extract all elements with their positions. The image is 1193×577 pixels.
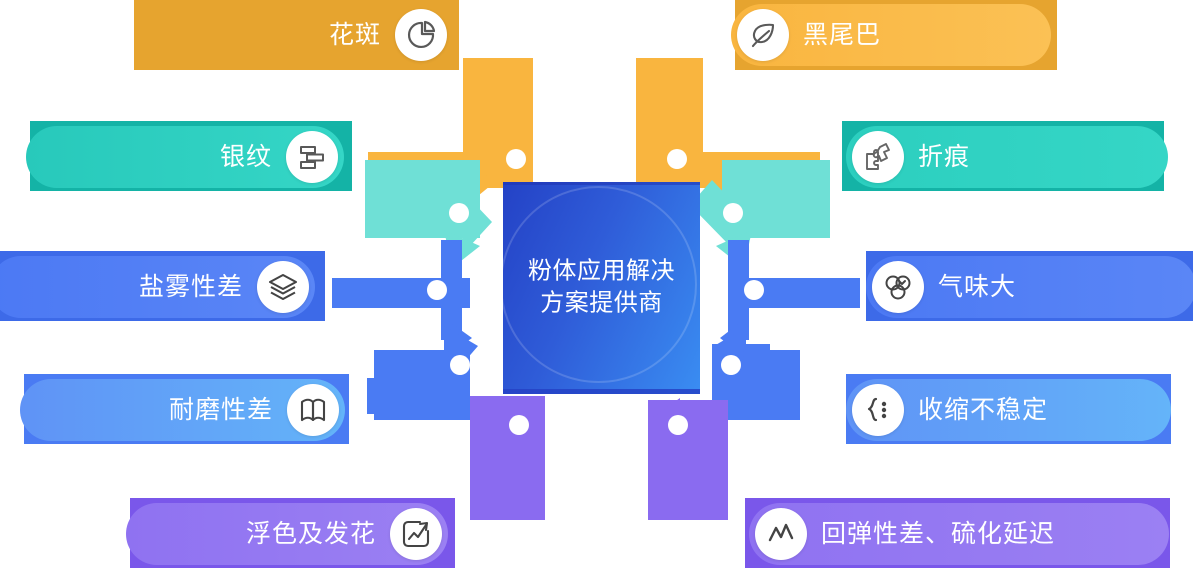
pill-left-3-label: 盐雾性差 (139, 275, 243, 300)
leaf-icon (737, 9, 789, 61)
pill-right-4[interactable]: 收缩不稳定 (846, 379, 1171, 441)
map-icon (287, 384, 339, 436)
pill-left-2-label: 银纹 (220, 145, 272, 170)
pill-right-1-label: 黑尾巴 (803, 23, 881, 48)
infographic-canvas: 粉体应用解决 方案提供商 花斑 银纹 (0, 0, 1193, 577)
pill-left-5[interactable]: 浮色及发花 (126, 503, 448, 565)
puzzle-icon (852, 131, 904, 183)
pill-right-3-body[interactable]: 气味大 (866, 256, 1193, 318)
braces-dots-icon (852, 384, 904, 436)
pill-left-1[interactable]: 花斑 (141, 4, 453, 66)
pill-left-3-body[interactable]: 盐雾性差 (0, 256, 315, 318)
pill-right-5-body[interactable]: 回弹性差、硫化延迟 (749, 503, 1169, 565)
pill-right-3-label: 气味大 (938, 275, 1016, 300)
pill-right-5[interactable]: 回弹性差、硫化延迟 (749, 503, 1169, 565)
pill-left-1-label: 花斑 (329, 23, 381, 48)
recycle-icon (872, 261, 924, 313)
brick-wall-icon (286, 131, 338, 183)
pill-right-2-body[interactable]: 折痕 (846, 126, 1168, 188)
center-title-line-2: 方案提供商 (503, 288, 700, 320)
pill-left-4-body[interactable]: 耐磨性差 (20, 379, 345, 441)
pill-left-1-body[interactable]: 花斑 (141, 4, 453, 66)
connector-left-4 (367, 326, 478, 420)
connector-right-5 (648, 398, 728, 520)
pill-left-5-label: 浮色及发花 (246, 522, 376, 547)
pill-right-4-label: 收缩不稳定 (918, 398, 1048, 423)
pill-left-5-body[interactable]: 浮色及发花 (126, 503, 448, 565)
pill-right-1[interactable]: 黑尾巴 (731, 4, 1051, 66)
pill-right-4-body[interactable]: 收缩不稳定 (846, 379, 1171, 441)
connector-left-2 (365, 160, 492, 268)
pie-chart-icon (395, 9, 447, 61)
pill-left-2[interactable]: 银纹 (26, 126, 344, 188)
center-top-line (503, 182, 700, 185)
center-title: 粉体应用解决 方案提供商 (503, 256, 700, 321)
pill-left-4[interactable]: 耐磨性差 (20, 379, 345, 441)
center-title-line-1: 粉体应用解决 (503, 256, 700, 288)
pill-right-2[interactable]: 折痕 (846, 126, 1168, 188)
line-chart-icon (755, 508, 807, 560)
pill-right-3[interactable]: 气味大 (866, 256, 1193, 318)
pill-left-4-label: 耐磨性差 (169, 398, 273, 423)
pill-right-1-body[interactable]: 黑尾巴 (731, 4, 1051, 66)
pill-left-3[interactable]: 盐雾性差 (0, 256, 315, 318)
center-bottom-line (503, 389, 700, 394)
center-node: 粉体应用解决 方案提供商 (503, 182, 700, 394)
pill-right-2-label: 折痕 (918, 145, 970, 170)
layers-icon (257, 261, 309, 313)
connector-left-5 (470, 396, 545, 520)
pill-left-2-body[interactable]: 银纹 (26, 126, 344, 188)
trending-up-icon (390, 508, 442, 560)
pill-right-5-label: 回弹性差、硫化延迟 (821, 522, 1055, 547)
